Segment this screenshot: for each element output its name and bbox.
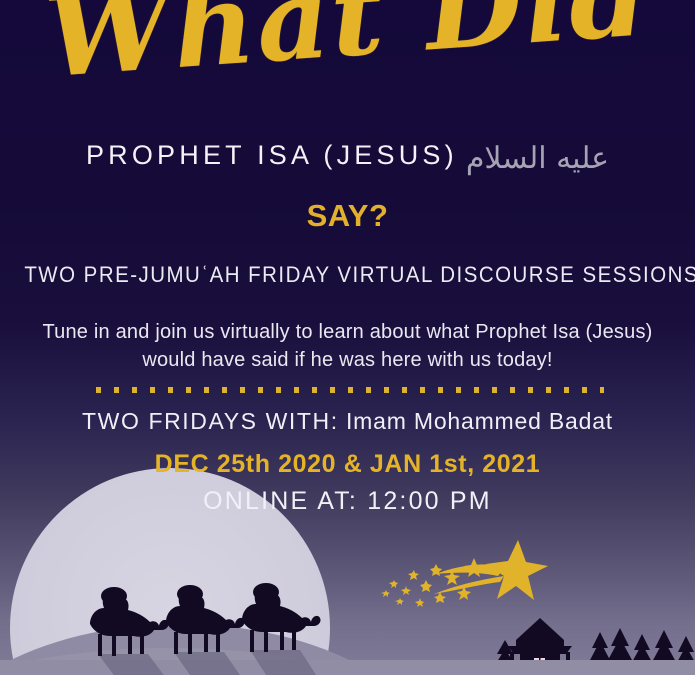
camel-caravan-icon	[70, 578, 340, 675]
subject-text: PROPHET ISA (JESUS)	[86, 140, 458, 170]
description-text: Tune in and join us virtually to learn a…	[14, 318, 681, 375]
speaker-label: TWO FRIDAYS WITH:	[82, 408, 339, 434]
shooting-star-icon	[378, 536, 558, 616]
event-poster: What Did PROPHET ISA (JESUS)عليه السلام …	[0, 0, 695, 675]
say-line: SAY?	[0, 198, 695, 234]
dotted-divider	[96, 387, 604, 393]
speaker-name: Imam Mohammed Badat	[346, 408, 613, 434]
event-time: ONLINE AT: 12:00 PM	[0, 487, 695, 516]
subject-line: PROPHET ISA (JESUS)عليه السلام	[0, 140, 695, 176]
event-dates: DEC 25th 2020 & JAN 1st, 2021	[0, 450, 695, 479]
sessions-line: TWO PRE-JUMUʿAH FRIDAY VIRTUAL DISCOURSE…	[24, 262, 670, 288]
speaker-line: TWO FRIDAYS WITH: Imam Mohammed Badat	[0, 408, 695, 435]
honorific-arabic-calligraphy: عليه السلام	[466, 141, 609, 176]
